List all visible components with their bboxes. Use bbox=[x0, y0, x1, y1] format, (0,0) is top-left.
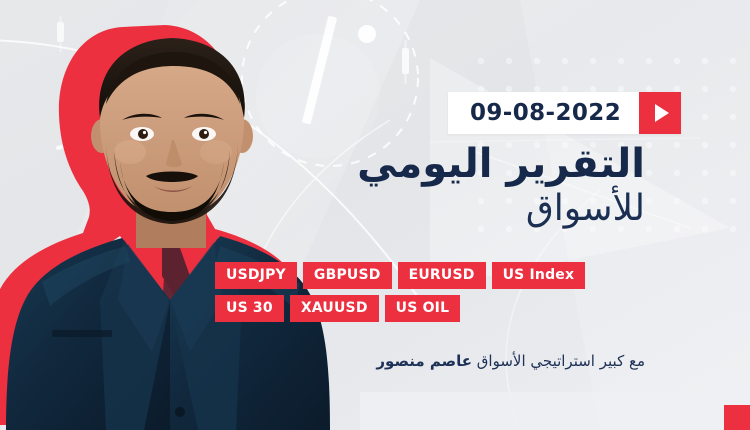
instrument-tag[interactable]: GBPUSD bbox=[303, 262, 392, 289]
title-line-primary: التقرير اليومي bbox=[215, 143, 645, 186]
report-date: 09-08-2022 bbox=[448, 92, 639, 134]
date-badge: 09-08-2022 bbox=[448, 92, 681, 134]
instrument-tag[interactable]: EURUSD bbox=[398, 262, 486, 289]
presenter-name: عاصم منصور bbox=[376, 352, 472, 370]
instrument-tag[interactable]: US OIL bbox=[385, 295, 461, 322]
instrument-tag-row-2: US 30 XAUUSD US OIL bbox=[215, 295, 645, 322]
instrument-tag-row-1: USDJPY GBPUSD EURUSD US Index bbox=[215, 262, 645, 289]
title-line-secondary: للأسواق bbox=[215, 188, 645, 229]
play-button[interactable] bbox=[639, 92, 681, 134]
corner-accent-square bbox=[724, 405, 750, 430]
instrument-tag[interactable]: US Index bbox=[492, 262, 586, 289]
instrument-tag[interactable]: XAUUSD bbox=[290, 295, 379, 322]
instrument-tag-list: USDJPY GBPUSD EURUSD US Index US 30 XAUU… bbox=[215, 262, 645, 328]
page-title: التقرير اليومي للأسواق bbox=[215, 143, 645, 230]
instrument-tag[interactable]: US 30 bbox=[215, 295, 284, 322]
play-triangle-icon bbox=[655, 104, 669, 122]
instrument-tag[interactable]: USDJPY bbox=[215, 262, 297, 289]
presenter-credit: مع كبير استراتيجي الأسواق عاصم منصور bbox=[215, 352, 645, 370]
daily-markets-report-banner: 09-08-2022 التقرير اليومي للأسواق USDJPY… bbox=[0, 0, 750, 430]
credit-prefix: مع كبير استراتيجي الأسواق bbox=[472, 352, 645, 370]
